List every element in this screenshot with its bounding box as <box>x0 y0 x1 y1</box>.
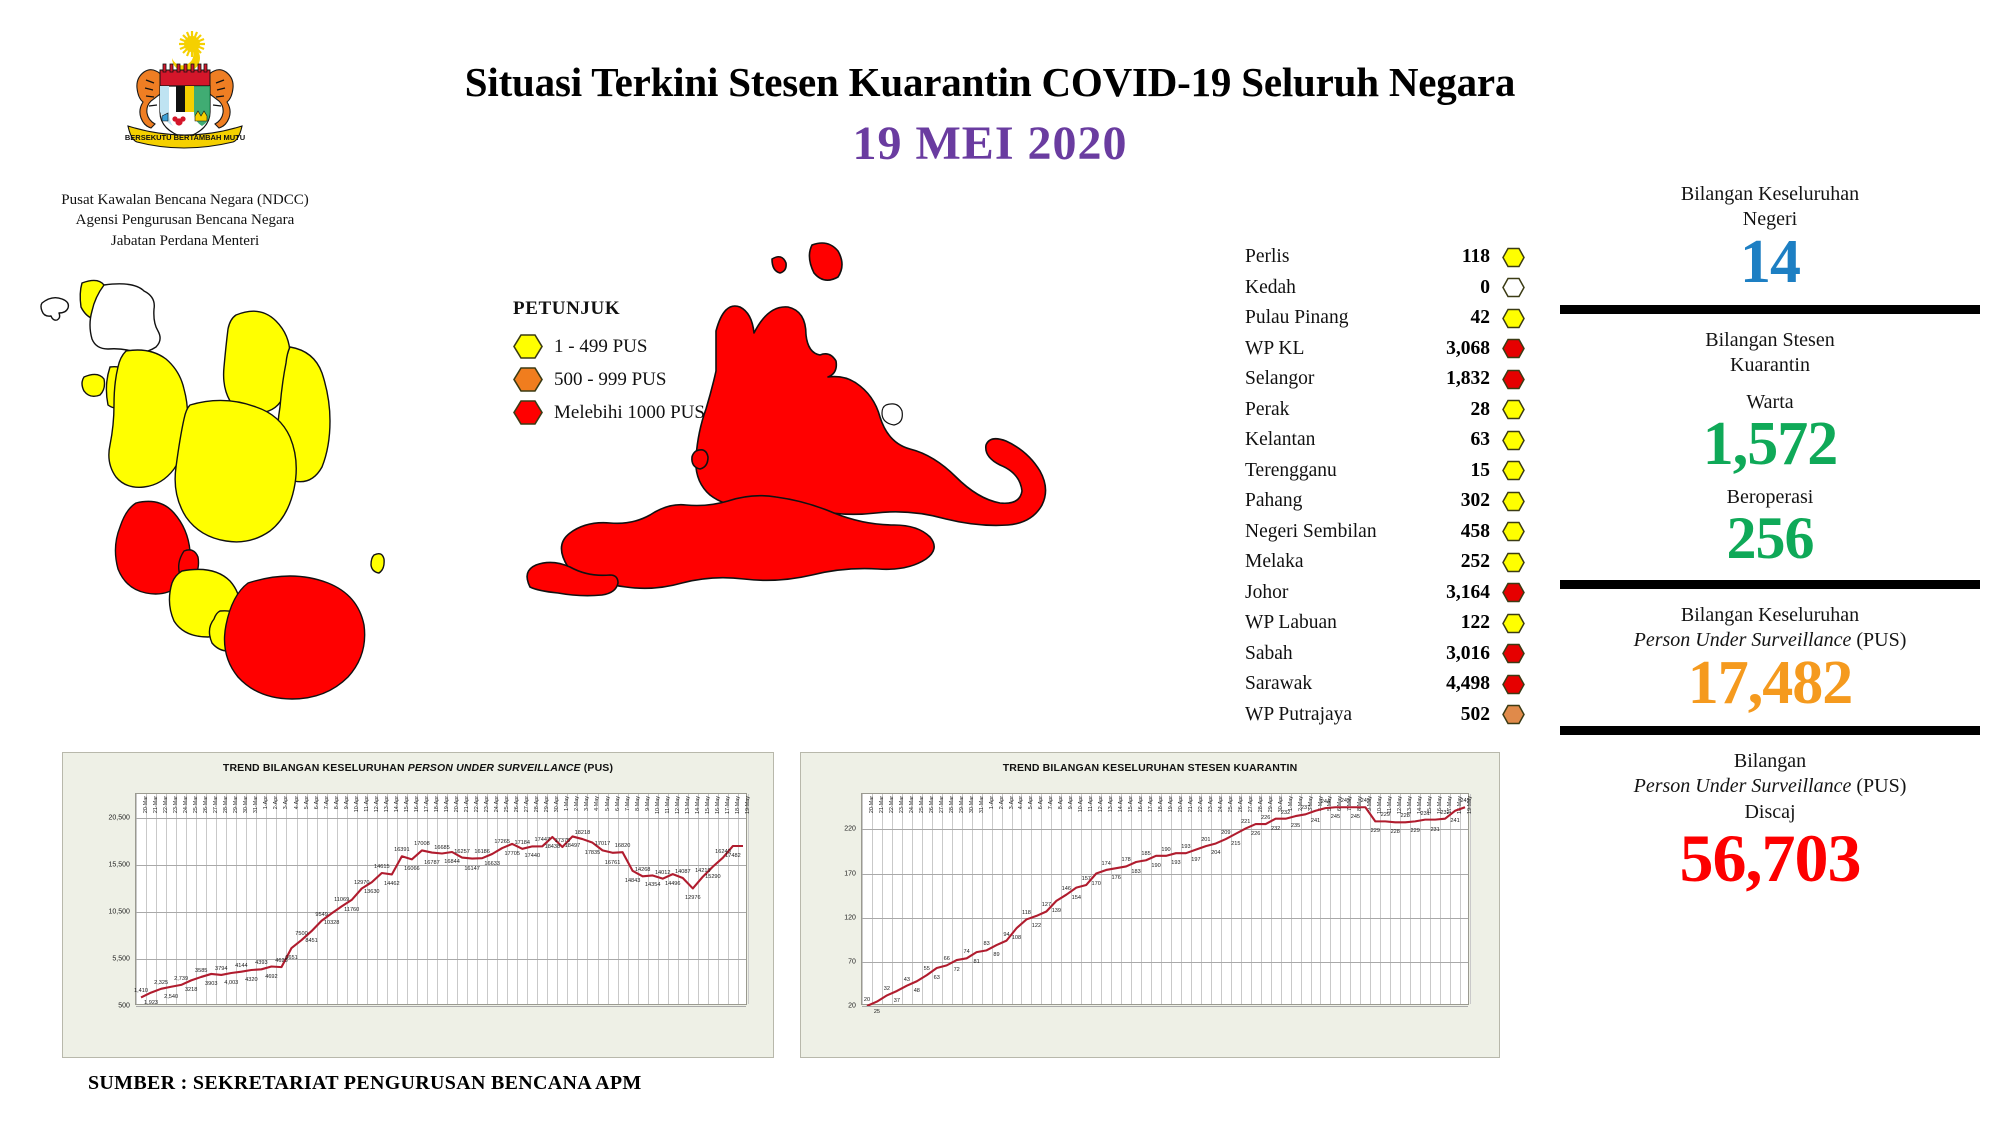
data-label: 7500 <box>295 931 307 937</box>
state-row: Kedah0 <box>1245 273 1525 304</box>
data-label: 14012 <box>655 870 671 876</box>
legend-title: PETUNJUK <box>513 298 773 320</box>
state-row: Sarawak4,498 <box>1245 669 1525 700</box>
y-axis-tick: 5,500 <box>112 955 130 962</box>
data-label: 14268 <box>635 867 651 873</box>
malaysia-coat-of-arms: BERSEKUTU BERTAMBAH MUTU <box>100 28 270 158</box>
data-label: 197 <box>1191 857 1200 863</box>
data-label: 16257 <box>454 849 470 855</box>
gridline-vertical <box>748 794 749 1004</box>
data-label: 14354 <box>645 882 661 888</box>
data-label: 245 <box>1331 814 1340 820</box>
state-name: Selangor <box>1245 368 1446 390</box>
data-label: 17705 <box>504 851 520 857</box>
chart-stesen-trend-title: TREND BILANGAN KESELURUHAN STESEN KUARAN… <box>801 753 1499 774</box>
page-title: Situasi Terkini Stesen Kuarantin COVID-1… <box>430 58 1550 106</box>
data-label: 228 <box>1401 813 1410 819</box>
data-label: 16844 <box>444 859 460 865</box>
data-label: 17835 <box>585 850 601 856</box>
hexagon-icon <box>1502 613 1525 634</box>
data-label: 231 <box>1420 811 1429 817</box>
map-region-brunei-gap <box>882 404 902 425</box>
data-label: 11069 <box>334 897 349 903</box>
data-label: 17440 <box>525 853 541 859</box>
y-axis-tick: 15,500 <box>108 861 129 868</box>
data-label: 16147 <box>464 866 480 872</box>
data-label: 201 <box>1201 837 1210 843</box>
data-label: 16066 <box>404 866 420 872</box>
state-row: Johor3,164 <box>1245 578 1525 609</box>
legend: PETUNJUK 1 - 499 PUS 500 - 999 PUS Meleb… <box>513 298 773 429</box>
title-post: (PUS) <box>581 762 613 774</box>
data-label: 74 <box>964 949 970 955</box>
data-label: 14843 <box>625 878 641 884</box>
legend-item-mid: 500 - 999 PUS <box>513 363 773 396</box>
state-name: Perak <box>1245 399 1471 421</box>
gridline-vertical <box>1470 794 1471 1004</box>
stat-warta-value: 1,572 <box>1560 414 1980 475</box>
data-label: 4320 <box>245 977 257 983</box>
data-label: 232 <box>1271 826 1280 832</box>
stat-discaj-caption-2: Person Under Surveillance (PUS) <box>1560 774 1980 799</box>
data-label: 14462 <box>384 881 400 887</box>
map-region-sabah-islet-2 <box>772 257 786 273</box>
data-label: 8451 <box>305 938 317 944</box>
chart-stesen-trend-plot: 207012017022020-Mar21-Mar22-Mar23-Mar24-… <box>861 793 1469 1005</box>
hexagon-icon <box>513 366 543 393</box>
state-row: Selangor1,832 <box>1245 364 1525 395</box>
y-axis-tick: 20,500 <box>108 814 129 821</box>
state-row: Negeri Sembilan458 <box>1245 517 1525 548</box>
data-label: 226 <box>1251 831 1260 837</box>
state-row: Pahang302 <box>1245 486 1525 517</box>
hexagon-icon <box>1502 399 1525 420</box>
hexagon-icon <box>513 333 543 360</box>
data-label: 12970 <box>354 880 370 886</box>
state-value: 252 <box>1461 551 1490 573</box>
stat-negeri-caption-1: Bilangan Keseluruhan <box>1560 182 1980 207</box>
data-label: 241 <box>1450 818 1459 824</box>
data-label: 37 <box>894 998 900 1004</box>
data-label: 3794 <box>215 966 227 972</box>
chart-pus-trend-title: TREND BILANGAN KESELURUHAN PERSON UNDER … <box>63 753 773 774</box>
data-label: 14496 <box>665 881 681 887</box>
hexagon-icon <box>1502 247 1525 268</box>
data-label: 215 <box>1231 841 1240 847</box>
stat-stesen-caption-2: Kuarantin <box>1560 353 1980 378</box>
data-label: 170 <box>1092 881 1101 887</box>
data-label: 16685 <box>434 845 450 851</box>
state-row: Melaka252 <box>1245 547 1525 578</box>
state-name: WP Putrajaya <box>1245 704 1461 726</box>
series-line <box>136 794 748 1006</box>
hexagon-icon <box>1502 430 1525 451</box>
map-region-tioman <box>371 554 384 573</box>
map-region-kelantan <box>224 311 290 413</box>
data-label: 11760 <box>344 907 359 913</box>
y-axis-tick: 500 <box>118 1003 130 1010</box>
data-label: 17184 <box>514 840 530 846</box>
data-label: 4144 <box>235 963 247 969</box>
map-region-johor <box>225 576 365 699</box>
map-region-pahang <box>175 400 296 541</box>
stat-discaj-tail: (PUS) <box>1851 775 1906 797</box>
data-label: 16820 <box>615 843 631 849</box>
data-label: 185 <box>1141 851 1150 857</box>
stat-discaj-value: 56,703 <box>1560 825 1980 892</box>
data-label: 17017 <box>595 841 611 847</box>
data-label: 14615 <box>374 864 390 870</box>
data-label: 94 <box>1003 932 1009 938</box>
map-region-langkawi <box>41 298 68 321</box>
y-axis-tick: 120 <box>844 914 856 921</box>
y-axis-tick: 10,500 <box>108 908 129 915</box>
state-name: Pahang <box>1245 490 1461 512</box>
data-label: 183 <box>1131 869 1140 875</box>
data-label: 4393 <box>255 960 267 966</box>
legend-item-high: Melebihi 1000 PUS <box>513 396 773 429</box>
data-label: 231 <box>1430 827 1439 833</box>
map-region-sabah-islet-1 <box>809 243 842 280</box>
y-axis-tick: 170 <box>844 870 856 877</box>
map-region-kedah <box>90 284 160 352</box>
state-value: 28 <box>1471 399 1491 421</box>
y-axis-tick: 220 <box>844 826 856 833</box>
data-label: 55 <box>924 966 930 972</box>
state-name: Terengganu <box>1245 460 1471 482</box>
data-label: 81 <box>973 959 979 965</box>
data-label: 3218 <box>185 987 197 993</box>
state-value: 4,498 <box>1446 673 1490 695</box>
legend-item-low: 1 - 499 PUS <box>513 330 773 363</box>
map-peninsular-malaysia <box>40 255 450 725</box>
hexagon-icon <box>1502 521 1525 542</box>
state-name: Kedah <box>1245 277 1480 299</box>
data-label: 17482 <box>725 853 741 859</box>
state-row: WP Putrajaya502 <box>1245 700 1525 731</box>
agency-line-2: Agensi Pengurusan Bencana Negara <box>40 210 330 230</box>
svg-text:BERSEKUTU BERTAMBAH MUTU: BERSEKUTU BERTAMBAH MUTU <box>125 133 245 142</box>
stat-pus-total-emphasis: Person Under Surveillance <box>1634 629 1852 651</box>
agency-line-1: Pusat Kawalan Bencana Negara (NDCC) <box>40 190 330 210</box>
data-label: 18497 <box>565 843 581 849</box>
series-line <box>862 794 1470 1006</box>
data-label: 3585 <box>195 968 207 974</box>
data-label: 14087 <box>675 869 691 875</box>
data-label: 16633 <box>484 861 500 867</box>
divider-2 <box>1560 580 1980 589</box>
data-label: 193 <box>1181 844 1190 850</box>
data-label: 245 <box>1361 798 1370 804</box>
state-value: 3,016 <box>1446 643 1490 665</box>
stat-stesen-caption-1: Bilangan Stesen <box>1560 328 1980 353</box>
title-pre: TREND BILANGAN KESELURUHAN <box>223 762 408 774</box>
divider-3 <box>1560 726 1980 735</box>
data-label: 83 <box>983 941 989 947</box>
data-label: 235 <box>1291 823 1300 829</box>
data-label: 1,923 <box>144 1000 158 1006</box>
data-label: 6651 <box>285 955 297 961</box>
data-label: 241 <box>1311 818 1320 824</box>
data-label: 63 <box>934 975 940 981</box>
state-name: Melaka <box>1245 551 1461 573</box>
chart-pus-trend: TREND BILANGAN KESELURUHAN PERSON UNDER … <box>62 752 774 1058</box>
state-value: 63 <box>1471 429 1491 451</box>
data-label: 237 <box>1301 805 1310 811</box>
state-value: 1,832 <box>1446 368 1490 390</box>
state-pus-list: Perlis118Kedah0Pulau Pinang42WP KL3,068S… <box>1245 242 1525 730</box>
state-row: Sabah3,016 <box>1245 639 1525 670</box>
gridline-horizontal <box>862 1006 1468 1007</box>
state-name: Sabah <box>1245 643 1446 665</box>
data-label: 18218 <box>575 830 591 836</box>
data-label: 193 <box>1171 860 1180 866</box>
data-label: 176 <box>1111 875 1120 881</box>
data-label: 245 <box>1351 814 1360 820</box>
data-label: 16787 <box>424 860 440 866</box>
state-name: Perlis <box>1245 246 1462 268</box>
data-label: 2,739 <box>174 976 188 982</box>
data-label: 16761 <box>605 860 621 866</box>
data-label: 25 <box>874 1009 880 1015</box>
hexagon-icon <box>1502 369 1525 390</box>
legend-label-high: Melebihi 1000 PUS <box>554 402 705 424</box>
data-label: 190 <box>1161 847 1170 853</box>
state-value: 458 <box>1461 521 1490 543</box>
data-label: 157 <box>1082 876 1091 882</box>
data-label: 2,325 <box>154 980 168 986</box>
data-label: 228 <box>1391 829 1400 835</box>
state-row: Perak28 <box>1245 395 1525 426</box>
hexagon-icon <box>1502 460 1525 481</box>
state-row: Pulau Pinang42 <box>1245 303 1525 334</box>
data-label: 10328 <box>324 920 340 926</box>
data-label: 221 <box>1241 819 1250 825</box>
stat-block-negeri: Bilangan Keseluruhan Negeri 14 <box>1560 182 1980 293</box>
data-label: 232 <box>1440 810 1449 816</box>
agency-line-3: Jabatan Perdana Menteri <box>40 231 330 251</box>
hexagon-icon <box>1502 582 1525 603</box>
state-name: Johor <box>1245 582 1446 604</box>
state-value: 3,164 <box>1446 582 1490 604</box>
map-region-pulau-pinang <box>82 374 105 396</box>
stat-block-pus-total: Bilangan Keseluruhan Person Under Survei… <box>1560 603 1980 714</box>
state-value: 3,068 <box>1446 338 1490 360</box>
agency-caption: Pusat Kawalan Bencana Negara (NDCC) Agen… <box>40 190 330 251</box>
chart-stesen-trend: TREND BILANGAN KESELURUHAN STESEN KUARAN… <box>800 752 1500 1058</box>
data-label: 2,540 <box>164 994 178 1000</box>
data-label: 3903 <box>205 981 217 987</box>
y-axis-tick: 70 <box>848 958 856 965</box>
map-region-wp-labuan <box>692 450 708 469</box>
state-value: 502 <box>1461 704 1490 726</box>
state-value: 15 <box>1471 460 1491 482</box>
state-value: 0 <box>1480 277 1490 299</box>
data-label: 1,410 <box>134 988 148 994</box>
stat-pus-total-caption-1: Bilangan Keseluruhan <box>1560 603 1980 628</box>
data-label: 229 <box>1371 828 1380 834</box>
data-label: 48 <box>914 988 920 994</box>
state-row: Kelantan63 <box>1245 425 1525 456</box>
data-label: 244 <box>1321 799 1330 805</box>
state-name: Negeri Sembilan <box>1245 521 1461 543</box>
title-em: PERSON UNDER SURVEILLANCE <box>408 762 581 774</box>
state-row: Perlis118 <box>1245 242 1525 273</box>
data-label: 4692 <box>265 974 277 980</box>
stat-discaj-caption-1: Bilangan <box>1560 749 1980 774</box>
data-label: 245 <box>1460 798 1469 804</box>
divider-1 <box>1560 305 1980 314</box>
data-label: 72 <box>954 967 960 973</box>
data-label: 66 <box>944 956 950 962</box>
data-label: 18438 <box>545 844 561 850</box>
legend-label-mid: 500 - 999 PUS <box>554 369 666 391</box>
state-name: Pulau Pinang <box>1245 307 1471 329</box>
data-label: 16186 <box>474 849 490 855</box>
hexagon-icon <box>1502 643 1525 664</box>
hexagon-icon <box>1502 491 1525 512</box>
data-label: 9549 <box>315 912 327 918</box>
data-label: 178 <box>1121 857 1130 863</box>
data-label: 32 <box>884 986 890 992</box>
report-date: 19 MEI 2020 <box>430 116 1550 171</box>
hexagon-icon <box>1502 674 1525 695</box>
stat-discaj-emphasis: Person Under Surveillance <box>1634 775 1852 797</box>
stat-block-pus-discaj: Bilangan Person Under Surveillance (PUS)… <box>1560 749 1980 891</box>
stat-pus-total-tail: (PUS) <box>1851 629 1906 651</box>
data-label: 146 <box>1062 886 1071 892</box>
stat-negeri-value: 14 <box>1560 232 1980 293</box>
state-row: Terengganu15 <box>1245 456 1525 487</box>
data-label: 127 <box>1042 902 1051 908</box>
state-row: WP Labuan122 <box>1245 608 1525 639</box>
data-label: 154 <box>1072 895 1081 901</box>
state-name: Sarawak <box>1245 673 1446 695</box>
hexagon-icon <box>1502 704 1525 725</box>
hexagon-icon <box>1502 552 1525 573</box>
data-label: 13630 <box>364 889 380 895</box>
stat-pus-total-value: 17,482 <box>1560 653 1980 714</box>
state-name: Kelantan <box>1245 429 1471 451</box>
state-value: 118 <box>1462 246 1490 268</box>
data-label: 245 <box>1341 798 1350 804</box>
hexagon-icon <box>1502 308 1525 329</box>
data-label: 232 <box>1281 810 1290 816</box>
data-label: 43 <box>904 977 910 983</box>
hexagon-icon <box>1502 277 1525 298</box>
data-label: 15290 <box>705 874 721 880</box>
state-name: WP Labuan <box>1245 612 1461 634</box>
data-label: 174 <box>1102 861 1111 867</box>
data-label: 89 <box>993 952 999 958</box>
data-label: 17447 <box>535 837 551 843</box>
data-label: 229 <box>1381 812 1390 818</box>
data-label: 122 <box>1032 923 1041 929</box>
stat-beroperasi-value: 256 <box>1560 509 1980 568</box>
legend-label-low: 1 - 499 PUS <box>554 336 647 358</box>
data-label: 108 <box>1012 935 1021 941</box>
data-label: 209 <box>1221 830 1230 836</box>
y-axis-tick: 20 <box>848 1003 856 1010</box>
stat-block-stesen: Bilangan Stesen Kuarantin Warta 1,572 Be… <box>1560 328 1980 568</box>
state-name: WP KL <box>1245 338 1446 360</box>
data-label: 16391 <box>394 847 410 853</box>
data-label: 20 <box>864 997 870 1003</box>
state-value: 42 <box>1471 307 1491 329</box>
data-label: 4,003 <box>224 980 238 986</box>
gridline-horizontal <box>136 1006 746 1007</box>
data-label: 139 <box>1052 908 1061 914</box>
state-row: WP KL3,068 <box>1245 334 1525 365</box>
data-label: 229 <box>1411 828 1420 834</box>
state-value: 122 <box>1461 612 1490 634</box>
state-value: 302 <box>1461 490 1490 512</box>
data-label: 17265 <box>494 839 510 845</box>
data-label: 17008 <box>414 841 430 847</box>
data-label: 12976 <box>685 895 701 901</box>
hexagon-icon <box>1502 338 1525 359</box>
data-label: 226 <box>1261 815 1270 821</box>
source-caption: SUMBER : SEKRETARIAT PENGURUSAN BENCANA … <box>88 1072 642 1095</box>
data-label: 190 <box>1151 863 1160 869</box>
hexagon-icon <box>513 399 543 426</box>
data-label: 204 <box>1211 850 1220 856</box>
chart-pus-trend-plot: 5005,50010,50015,50020,50020-Mar21-Mar22… <box>135 793 747 1005</box>
title-pre: TREND BILANGAN KESELURUHAN STESEN KUARAN… <box>1003 762 1298 774</box>
summary-stats-panel: Bilangan Keseluruhan Negeri 14 Bilangan … <box>1560 182 1980 891</box>
data-label: 118 <box>1022 910 1031 916</box>
